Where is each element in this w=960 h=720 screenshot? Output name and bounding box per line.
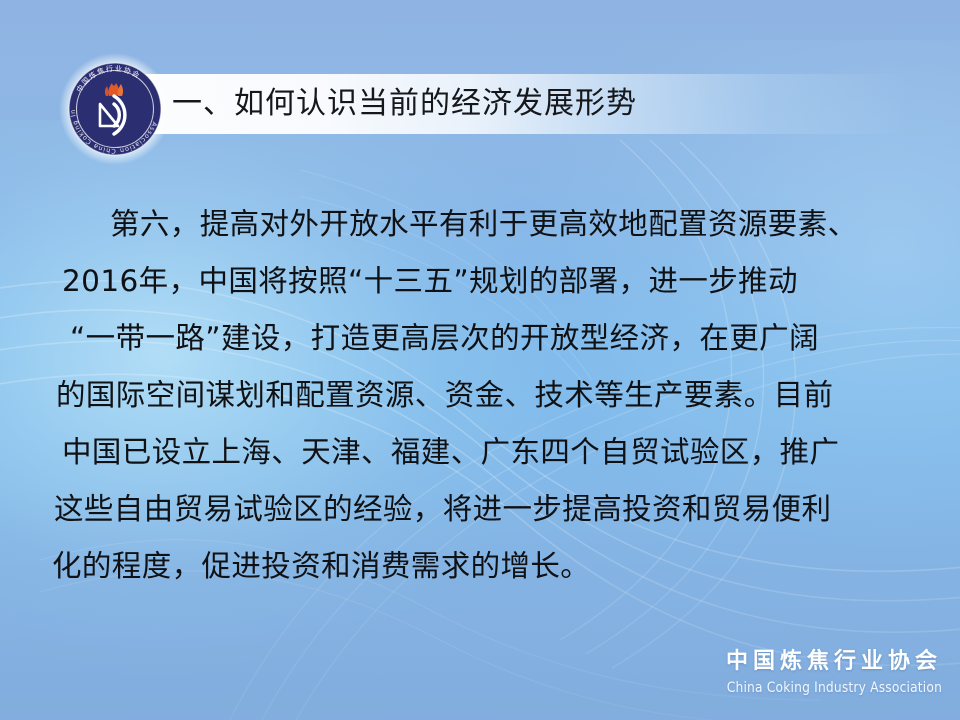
footer-branding: 中国炼焦行业协会 China Coking Industry Associati… <box>713 648 942 698</box>
presentation-slide: 一、如何认识当前的经济发展形势 中国炼焦行业协会 <box>0 0 960 720</box>
footer-organization-en: China Coking Industry Association <box>727 678 942 698</box>
body-line: “一带一路”建设，打造更高层次的开放型经济，在更广阔 <box>44 310 924 367</box>
body-line: 第六，提高对外开放水平有利于更高效地配置资源要素、 <box>44 196 924 253</box>
body-line: 化的程度，促进投资和消费需求的增长。 <box>44 538 924 595</box>
association-logo-icon: 中国炼焦行业协会 Association China Coking Indust… <box>56 50 174 168</box>
slide-title: 一、如何认识当前的经济发展形势 <box>172 76 637 132</box>
body-line: 2016年，中国将按照“十三五”规划的部署，进一步推动 <box>44 253 924 310</box>
body-line: 的国际空间谋划和配置资源、资金、技术等生产要素。目前 <box>44 367 924 424</box>
body-line: 中国已设立上海、天津、福建、广东四个自贸试验区，推广 <box>44 424 924 481</box>
body-line: 这些自由贸易试验区的经验，将进一步提高投资和贸易便利 <box>44 481 924 538</box>
slide-body: 第六，提高对外开放水平有利于更高效地配置资源要素、 2016年，中国将按照“十三… <box>44 196 924 595</box>
footer-organization-cn: 中国炼焦行业协会 <box>713 648 942 676</box>
